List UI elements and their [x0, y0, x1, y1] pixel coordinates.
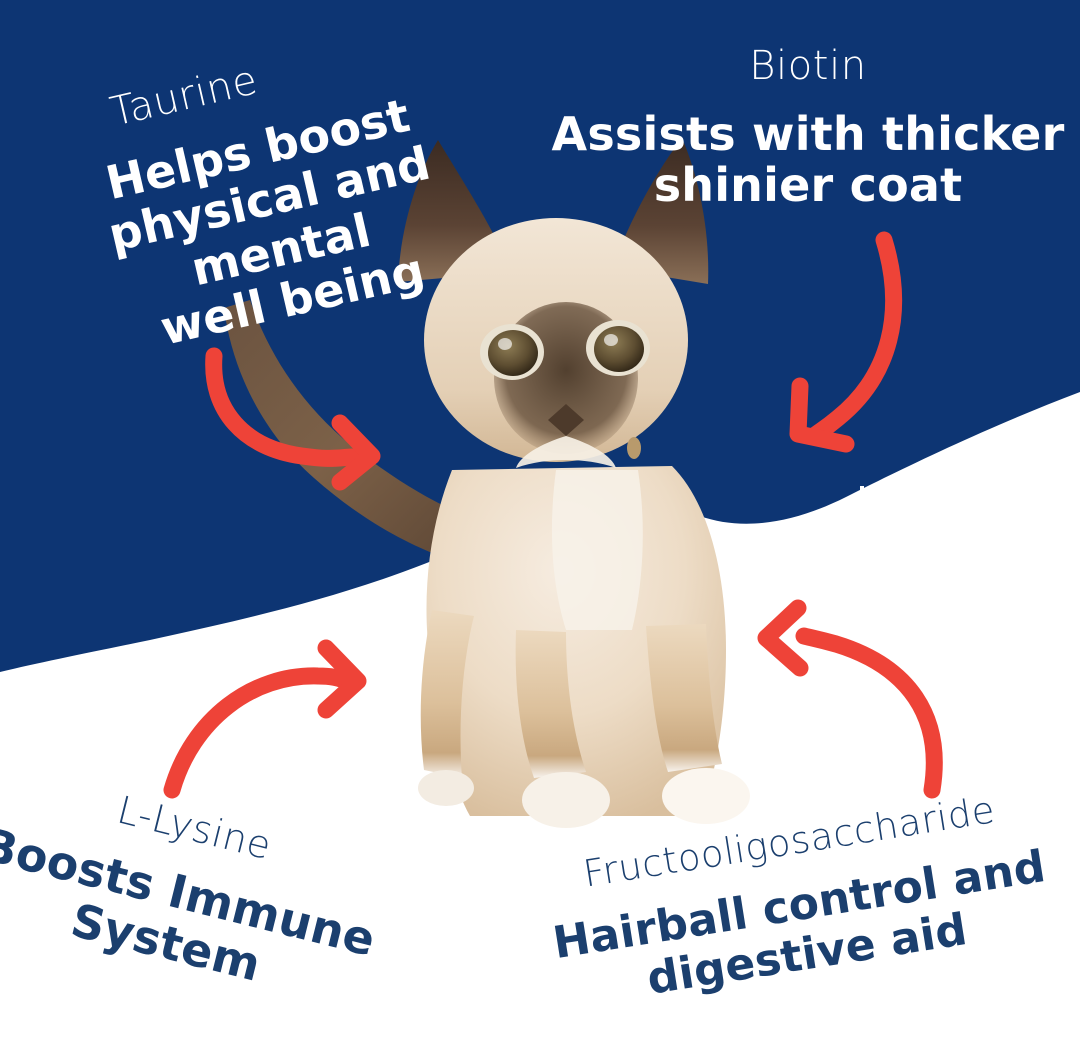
infographic-canvas: Taurine Helps boost physical and mental …	[0, 0, 1080, 1042]
edge-artifact	[860, 486, 864, 498]
callout-biotin: Biotin Assists with thicker shinier coat	[548, 26, 1068, 230]
callout-biotin-benefit: Assists with thicker shinier coat	[548, 109, 1068, 212]
callout-biotin-nutrient: Biotin	[548, 44, 1068, 89]
